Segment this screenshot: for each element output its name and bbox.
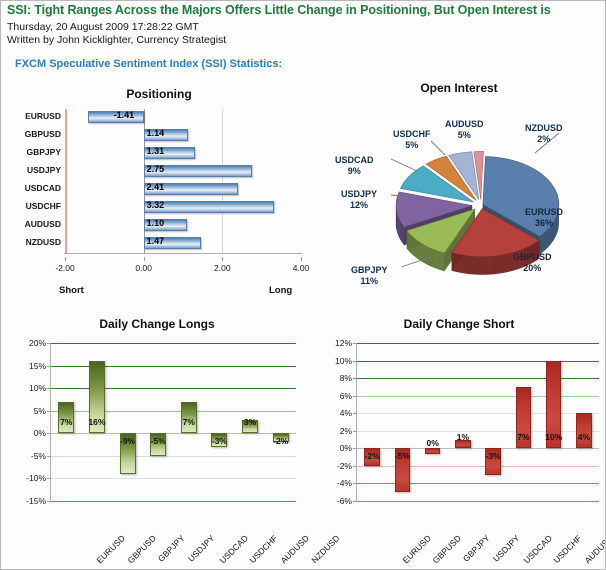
pie-slice-value: 36% xyxy=(525,218,563,229)
y-tick-mark xyxy=(353,501,357,502)
positioning-row: NZDUSD1.47 xyxy=(65,235,301,253)
y-axis-label: 12% xyxy=(335,338,352,348)
positioning-tick-mark xyxy=(65,257,66,261)
y-axis xyxy=(50,343,51,501)
pie-slice-name: EURUSD xyxy=(525,207,563,218)
gridline xyxy=(51,501,296,502)
positioning-baseline xyxy=(64,253,302,254)
positioning-category-label: USDJPY xyxy=(7,165,61,175)
open-interest-chart: Open Interest EURUSD36%GBPUSD20%GBPJPY11… xyxy=(313,81,605,301)
y-tick-mark xyxy=(47,366,51,367)
positioning-value-label: 1.14 xyxy=(147,128,165,138)
daily-change-longs-title: Daily Change Longs xyxy=(7,317,307,331)
gridline xyxy=(51,478,296,479)
x-category-label: AUDUSD xyxy=(279,533,311,565)
pie-slice-label: USDJPY12% xyxy=(341,189,377,211)
y-axis xyxy=(356,343,357,501)
y-tick-mark xyxy=(47,501,51,502)
y-tick-mark xyxy=(353,343,357,344)
positioning-plot-area: EURUSD-1.41GBPUSD1.14GBPJPY1.31USDJPY2.7… xyxy=(65,109,301,253)
gridline xyxy=(51,456,296,457)
positioning-tick-mark xyxy=(301,257,302,261)
pie-slice-name: GBPJPY xyxy=(351,265,388,276)
column-value-label: 16% xyxy=(88,417,105,427)
gridline xyxy=(357,361,599,362)
gridline xyxy=(357,396,599,397)
pie-slice-name: USDCAD xyxy=(335,155,374,166)
gridline xyxy=(357,378,599,379)
column-value-label: 3% xyxy=(244,417,256,427)
positioning-category-label: GBPJPY xyxy=(7,147,61,157)
positioning-category-label: NZDUSD xyxy=(7,237,61,247)
positioning-x-axis: -2.000.002.004.00 xyxy=(65,257,301,287)
pie-slice-name: AUDUSD xyxy=(445,119,484,130)
gridline xyxy=(357,483,599,484)
x-category-label: EURUSD xyxy=(95,533,127,565)
y-axis-label: -10% xyxy=(26,473,46,483)
y-tick-mark xyxy=(47,343,51,344)
column-value-label: -5% xyxy=(395,451,410,461)
pie-slice-label: USDCHF5% xyxy=(393,129,431,151)
daily-change-longs-plot-area: 20%15%10%5%0%-5%-10%-15%7%EURUSD16%GBPUS… xyxy=(51,343,296,501)
column-value-label: -3% xyxy=(486,451,501,461)
gridline xyxy=(357,466,599,467)
positioning-tick-mark xyxy=(144,257,145,261)
y-tick-mark xyxy=(47,478,51,479)
x-category-label: USDCHF xyxy=(248,533,280,565)
x-category-label: GBPUSD xyxy=(125,533,157,565)
column-bar xyxy=(425,448,441,454)
y-axis-label: 2% xyxy=(340,426,352,436)
pie-slice-label: EURUSD36% xyxy=(525,207,563,229)
pie-slice-name: GBPUSD xyxy=(513,252,552,263)
y-axis-label: -5% xyxy=(31,451,46,461)
y-axis-label: 0% xyxy=(34,428,46,438)
x-category-label: USDCHF xyxy=(552,533,584,565)
pie-slice-value: 11% xyxy=(351,276,388,287)
pie-leader-line xyxy=(391,159,417,171)
positioning-value-label: 1.31 xyxy=(147,146,165,156)
positioning-value-label: 2.41 xyxy=(147,182,165,192)
y-axis-label: 5% xyxy=(34,406,46,416)
pie-leader-line xyxy=(431,141,445,155)
pie-slice-value: 5% xyxy=(445,130,484,141)
positioning-row: GBPJPY1.31 xyxy=(65,145,301,163)
gridline xyxy=(51,366,296,367)
column-value-label: -2% xyxy=(365,451,380,461)
pie-slice-label: AUDUSD5% xyxy=(445,119,484,141)
y-axis-label: 6% xyxy=(340,391,352,401)
column-value-label: 10% xyxy=(545,432,562,442)
y-tick-mark xyxy=(353,396,357,397)
column-value-label: 1% xyxy=(457,432,469,442)
positioning-row: USDCAD2.41 xyxy=(65,181,301,199)
positioning-category-label: EURUSD xyxy=(7,111,61,121)
pie-slice-value: 20% xyxy=(513,263,552,274)
positioning-value-label: 3.32 xyxy=(147,200,165,210)
gridline xyxy=(51,411,296,412)
positioning-value-label: 1.10 xyxy=(147,218,165,228)
open-interest-chart-title: Open Interest xyxy=(313,81,605,95)
gridline xyxy=(357,448,599,449)
positioning-row: USDJPY2.75 xyxy=(65,163,301,181)
open-interest-plot-area: EURUSD36%GBPUSD20%GBPJPY11%USDJPY12%USDC… xyxy=(313,97,605,297)
pie-slice-value: 2% xyxy=(525,134,563,145)
positioning-category-label: GBPUSD xyxy=(7,129,61,139)
column-value-label: -3% xyxy=(212,436,227,446)
column-value-label: 4% xyxy=(578,432,590,442)
y-axis-label: -6% xyxy=(337,496,352,506)
column-value-label: -5% xyxy=(151,436,166,446)
daily-change-short-chart: Daily Change Short 12%10%8%6%4%2%0%-2%-4… xyxy=(313,317,605,567)
pie-slice-label: GBPJPY11% xyxy=(351,265,388,287)
y-axis-label: -4% xyxy=(337,478,352,488)
y-axis-label: 8% xyxy=(340,373,352,383)
pie-slice-value: 5% xyxy=(393,140,431,151)
y-axis-label: -15% xyxy=(26,496,46,506)
positioning-row: GBPUSD1.14 xyxy=(65,127,301,145)
positioning-value-label: -1.41 xyxy=(114,110,135,120)
positioning-value-label: 2.75 xyxy=(147,164,165,174)
positioning-row: AUDUSD1.10 xyxy=(65,217,301,235)
y-axis-label: 15% xyxy=(29,361,46,371)
pie-slice-label: GBPUSD20% xyxy=(513,252,552,274)
positioning-tick-label: 2.00 xyxy=(214,263,231,273)
positioning-tick-label: -2.00 xyxy=(55,263,74,273)
gridline xyxy=(51,433,296,434)
y-axis-label: 20% xyxy=(29,338,46,348)
pie-slice-name: USDJPY xyxy=(341,189,377,200)
gridline xyxy=(357,413,599,414)
pie-slice-name: NZDUSD xyxy=(525,123,563,134)
timestamp: Thursday, 20 August 2009 17:28:22 GMT xyxy=(7,21,226,34)
y-tick-mark xyxy=(47,411,51,412)
daily-change-longs-chart: Daily Change Longs 20%15%10%5%0%-5%-10%-… xyxy=(7,317,307,567)
daily-change-short-plot-area: 12%10%8%6%4%2%0%-2%-4%-6%-2%EURUSD-5%GBP… xyxy=(357,343,599,501)
positioning-value-label: 1.47 xyxy=(147,236,165,246)
x-category-label: GBPUSD xyxy=(431,533,463,565)
x-category-label: USDJPY xyxy=(186,533,217,564)
y-tick-mark xyxy=(353,378,357,379)
positioning-tick-mark xyxy=(222,257,223,261)
positioning-chart-title: Positioning xyxy=(9,87,309,101)
x-category-label: AUDUSD xyxy=(582,533,606,565)
y-tick-mark xyxy=(353,431,357,432)
y-tick-mark xyxy=(47,456,51,457)
gridline xyxy=(357,431,599,432)
pie-slice-value: 9% xyxy=(335,166,374,177)
positioning-category-label: USDCHF xyxy=(7,201,61,211)
y-tick-mark xyxy=(353,448,357,449)
section-heading: FXCM Speculative Sentiment Index (SSI) S… xyxy=(15,58,282,70)
author-line: Written by John Kicklighter, Currency St… xyxy=(7,34,226,47)
x-category-label: GBPJPY xyxy=(155,533,186,564)
article-page: SSI: Tight Ranges Across the Majors Offe… xyxy=(0,0,606,570)
column-bar xyxy=(576,413,592,448)
y-axis-label: 10% xyxy=(29,383,46,393)
column-value-label: -9% xyxy=(120,436,135,446)
y-axis-label: 0% xyxy=(340,443,352,453)
x-category-label: EURUSD xyxy=(401,533,433,565)
column-value-label: -2% xyxy=(273,436,288,446)
byline: Thursday, 20 August 2009 17:28:22 GMT Wr… xyxy=(7,21,226,47)
y-axis-label: 10% xyxy=(335,356,352,366)
column-value-label: 7% xyxy=(183,417,195,427)
column-value-label: 7% xyxy=(60,417,72,427)
y-tick-mark xyxy=(47,388,51,389)
daily-change-short-title: Daily Change Short xyxy=(313,317,605,331)
y-tick-mark xyxy=(353,361,357,362)
positioning-axis-label-short: Short xyxy=(59,285,84,296)
x-category-label: GBPJPY xyxy=(460,533,491,564)
y-tick-mark xyxy=(353,483,357,484)
gridline xyxy=(51,388,296,389)
y-tick-mark xyxy=(353,413,357,414)
x-category-label: USDCAD xyxy=(217,533,249,565)
y-axis-label: 4% xyxy=(340,408,352,418)
y-tick-mark xyxy=(47,433,51,434)
pie-slice-name: USDCHF xyxy=(393,129,431,140)
positioning-chart: Positioning EURUSD-1.41GBPUSD1.14GBPJPY1… xyxy=(9,87,309,292)
pie-slice-label: NZDUSD2% xyxy=(525,123,563,145)
gridline xyxy=(357,501,599,502)
y-tick-mark xyxy=(353,466,357,467)
pie-slice-label: USDCAD9% xyxy=(335,155,374,177)
page-title: SSI: Tight Ranges Across the Majors Offe… xyxy=(7,3,606,17)
positioning-category-label: AUDUSD xyxy=(7,219,61,229)
column-value-label: 7% xyxy=(517,432,529,442)
positioning-row: EURUSD-1.41 xyxy=(65,109,301,127)
x-category-label: USDJPY xyxy=(491,533,522,564)
column-value-label: 0% xyxy=(426,438,438,448)
positioning-tick-label: 0.00 xyxy=(135,263,152,273)
positioning-row: USDCHF3.32 xyxy=(65,199,301,217)
positioning-axis-label-long: Long xyxy=(269,285,292,296)
pie-slice-value: 12% xyxy=(341,200,377,211)
x-category-label: USDCAD xyxy=(522,533,554,565)
positioning-tick-label: 4.00 xyxy=(293,263,310,273)
y-axis-label: -2% xyxy=(337,461,352,471)
gridline xyxy=(357,343,599,344)
positioning-category-label: USDCAD xyxy=(7,183,61,193)
gridline xyxy=(51,343,296,344)
